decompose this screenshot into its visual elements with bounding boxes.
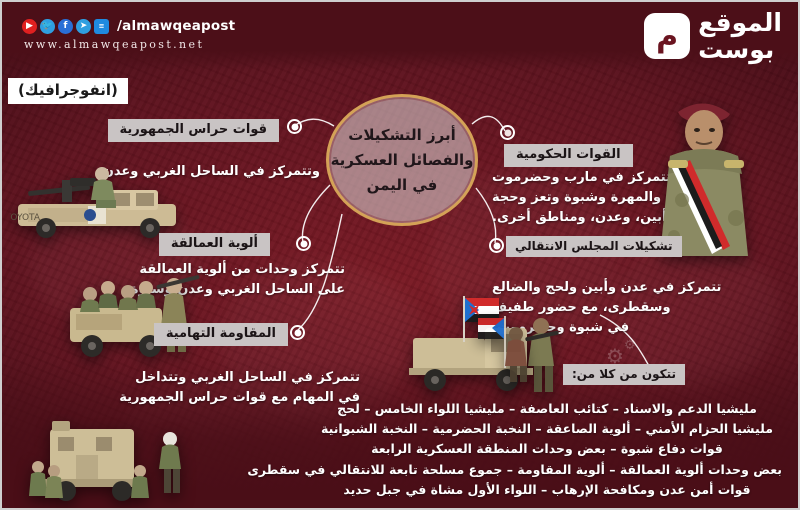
website-url[interactable]: www.almawqeapost.net [24,38,204,51]
twitter-icon[interactable]: 🐦 [40,19,55,34]
composition-line-5: قوات أمن عدن ومكافحة الإرهاب – اللواء ال… [312,480,782,500]
hub-text: أبرز التشكيلات والفصائل العسكرية في اليم… [326,94,478,226]
logo-mark-icon: م [644,13,690,59]
telegram-icon[interactable]: ➤ [76,19,91,34]
logo-line-2: بوست [698,37,774,62]
composition-list: مليشيا الدعم والاسناد – كتائب العاصفة – … [312,399,782,500]
photo-armored-vehicle-troops [18,415,193,507]
infographic-tag: (انفوجرافيك) [8,78,128,104]
social-handle: /almawqeapost [117,18,235,34]
composition-line-1: مليشيا الدعم والاسناد – كتائب العاصفة – … [312,399,782,419]
label-republican-guard: قوات حراس الجمهورية [108,119,280,142]
node-government-forces[interactable] [500,125,515,140]
central-hub: أبرز التشكيلات والفصائل العسكرية في اليم… [326,94,478,226]
node-giants-brigades[interactable] [296,236,311,251]
hub-title-line-3: في اليمن [367,176,438,194]
logo-line-1: الموقع [698,10,782,35]
composition-line-2: مليشيا الحزام الأمني – ألوية الصاعقة – ا… [312,419,782,439]
gear-icon-small: ⚙ [624,338,636,353]
label-government-forces: القوات الحكومية [504,144,633,167]
infographic-canvas: ▶ 🐦 f ➤ ≡ /almawqeapost www.almawqeapost… [0,0,800,510]
node-republican-guard[interactable] [287,119,302,134]
hub-title-line-1: أبرز التشكيلات [348,126,455,144]
node-tihama-resistance[interactable] [290,325,305,340]
label-composition: تتكون من كلا من: [563,364,685,385]
youtube-icon[interactable]: ▶ [22,19,37,34]
news-app-icon[interactable]: ≡ [94,19,109,34]
composition-line-3: قوات دفاع شبوة – بعض وحدات المنطقة العسك… [312,439,782,459]
svg-text:TOYOTA: TOYOTA [10,213,41,223]
node-stc-formations[interactable] [489,238,504,253]
composition-line-4: بعض وحدات ألوية العمالقة – ألوية المقاوم… [312,460,782,480]
label-tihama-resistance: المقاومة التهامية [154,323,288,346]
logo-wordmark: الموقع بوست [698,10,782,62]
text-tihama-resistance-line-1: تتمركز في الساحل الغربي وتتداخل [70,368,360,388]
label-stc-formations: تشكيلات المجلس الانتقالي [506,236,682,257]
site-logo[interactable]: الموقع بوست م [644,10,782,62]
facebook-icon[interactable]: f [58,19,73,34]
photo-stc-fighter-flag [476,312,546,384]
photo-technical-truck-guards: TOYOTA [10,160,190,240]
hub-title-line-2: والفصائل العسكرية [331,151,474,169]
social-links[interactable]: ▶ 🐦 f ➤ ≡ /almawqeapost [22,18,235,34]
